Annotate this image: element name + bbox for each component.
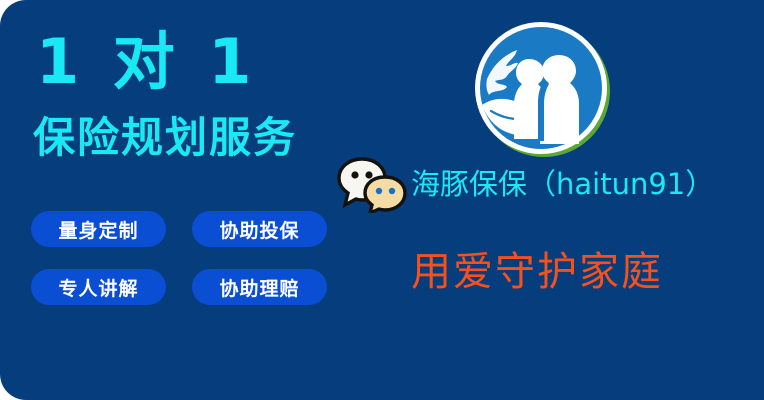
headline-primary: 1 对 1 <box>36 31 257 93</box>
feature-pill-custom-plan[interactable]: 量身定制 <box>31 211 166 247</box>
wechat-handle-text: 海豚保保（haitun91） <box>411 170 714 199</box>
dolphin-globe-family-logo <box>473 19 615 161</box>
left-content-column: 1 对 1 保险规划服务 量身定制 协助投保 专人讲解 协助理赔 <box>0 0 360 400</box>
feature-pill-grid: 量身定制 协助投保 专人讲解 协助理赔 <box>31 211 341 305</box>
slogan-text: 用爱守护家庭 <box>411 252 663 292</box>
feature-pill-application-help[interactable]: 协助投保 <box>192 211 327 247</box>
wechat-icon <box>337 155 409 213</box>
feature-pill-claims-help[interactable]: 协助理赔 <box>192 269 327 305</box>
promo-banner: 1 对 1 保险规划服务 量身定制 协助投保 专人讲解 协助理赔 <box>0 0 764 400</box>
wechat-contact-row[interactable]: 海豚保保（haitun91） <box>337 154 714 214</box>
headline-secondary: 保险规划服务 <box>33 117 297 159</box>
feature-pill-expert-explain[interactable]: 专人讲解 <box>31 269 166 305</box>
